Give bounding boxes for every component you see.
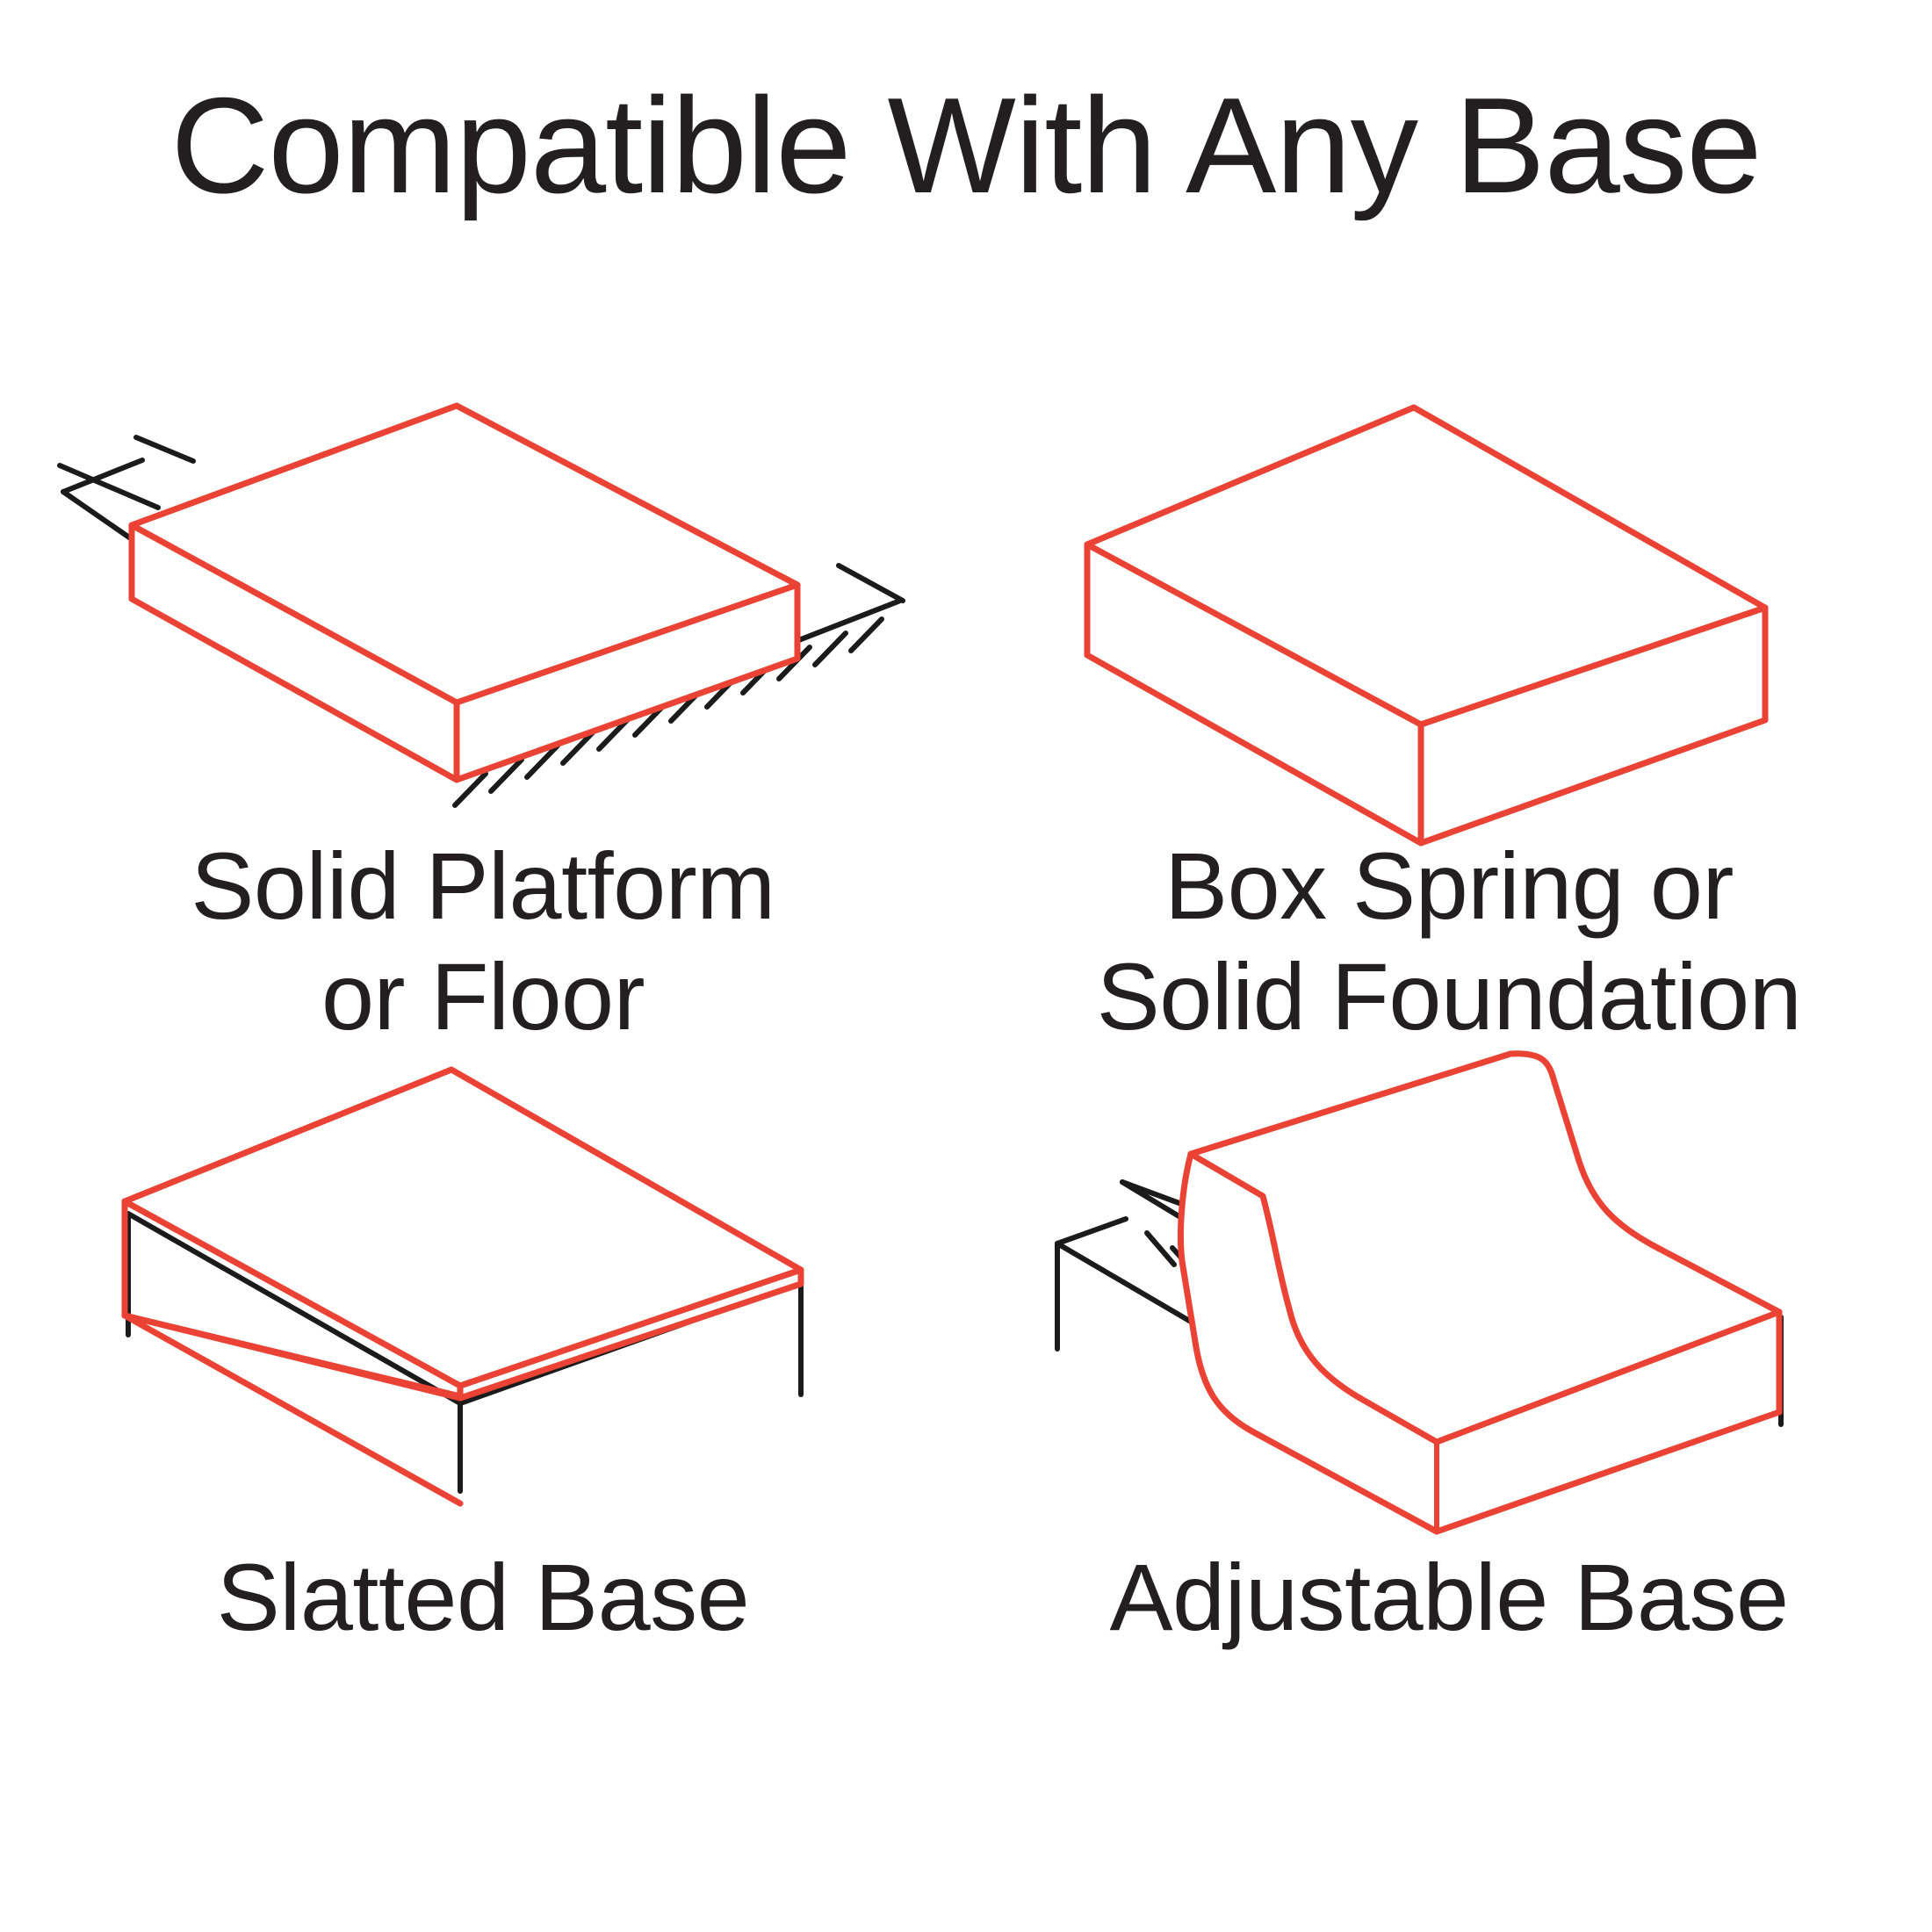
illustration-box-spring-or-solid-foundation — [1010, 369, 1888, 825]
page-title: Compatible With Any Base — [0, 77, 1932, 213]
caption-line-1: Solid Platform — [191, 831, 775, 941]
inclined-mattress — [1180, 1054, 1779, 1532]
base-types-grid: Solid Platform or Floor — [0, 369, 1932, 1932]
panel-caption: Solid Platform or Floor — [191, 831, 775, 1053]
panel-caption: Adjustable Base — [1109, 1542, 1788, 1653]
compatible-bases-infographic: Compatible With Any Base — [0, 0, 1932, 1932]
caption-line-1: Adjustable Base — [1109, 1542, 1788, 1653]
panel-caption: Slatted Base — [217, 1542, 749, 1653]
caption-line-2: or Floor — [191, 941, 775, 1052]
caption-line-2: Solid Foundation — [1097, 941, 1802, 1052]
illustration-adjustable-base — [1010, 1045, 1888, 1510]
caption-line-1: Slatted Base — [217, 1542, 749, 1653]
caption-line-1: Box Spring or — [1097, 831, 1802, 941]
panel-adjustable-base: Adjustable Base — [966, 1045, 1932, 1932]
mattress — [132, 406, 797, 780]
illustration-solid-platform-or-floor — [44, 369, 922, 825]
mattress — [1087, 407, 1765, 843]
panel-solid-platform-or-floor: Solid Platform or Floor — [0, 369, 966, 1045]
panel-box-spring-or-solid-foundation: Box Spring or Solid Foundation — [966, 369, 1932, 1045]
panel-slatted-base: Slatted Base — [0, 1045, 966, 1932]
panel-caption: Box Spring or Solid Foundation — [1097, 831, 1802, 1053]
illustration-slatted-base — [44, 1045, 922, 1510]
